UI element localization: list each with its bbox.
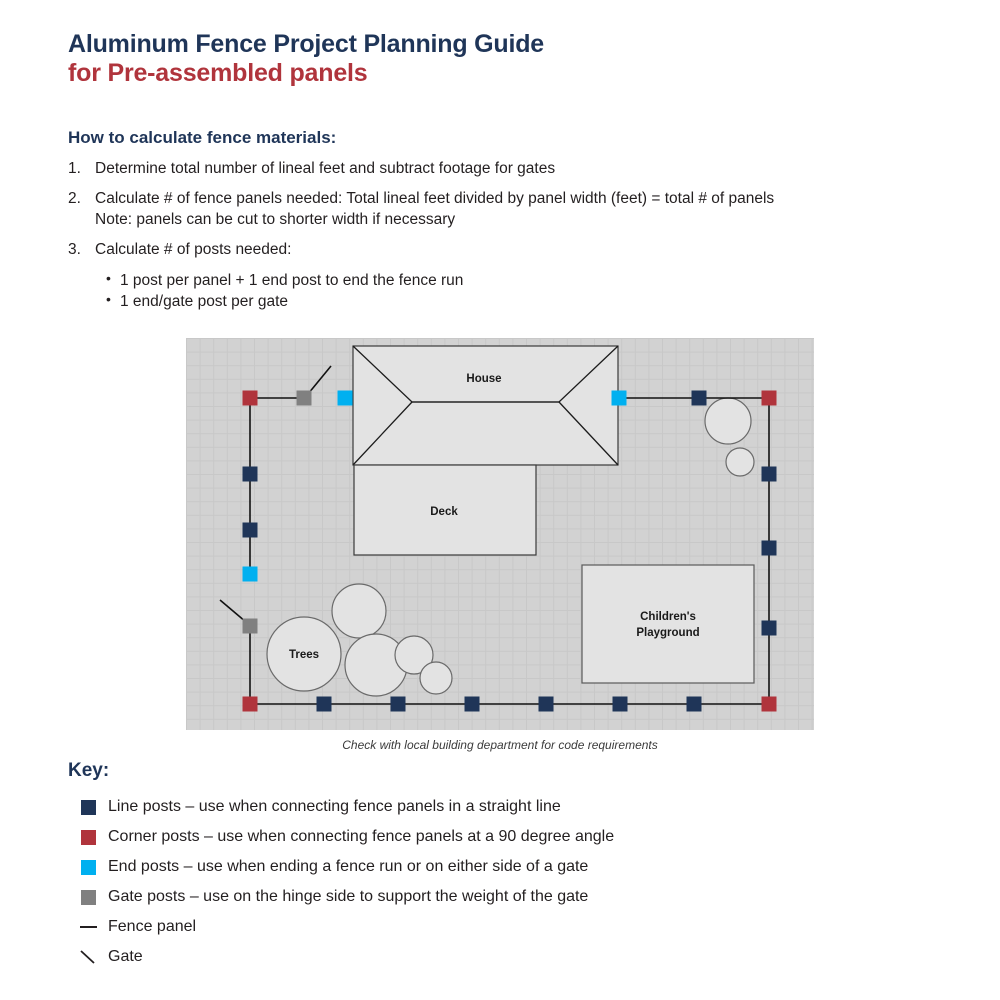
end-post-marker <box>612 391 627 406</box>
diagram-canvas: House Deck Children's Playground Trees <box>186 338 814 730</box>
corner-post-swatch <box>68 830 108 845</box>
corner-post-marker <box>243 697 258 712</box>
key-item-corner-posts: Corner posts – use when connecting fence… <box>68 822 968 852</box>
line-post-marker <box>613 697 628 712</box>
line-post-swatch <box>68 800 108 815</box>
house-shape <box>353 346 618 465</box>
howto-sub-bullets: 1 post per panel + 1 end post to end the… <box>68 270 948 313</box>
gate-post-marker <box>243 619 258 634</box>
key-item-label: Fence panel <box>108 917 196 936</box>
playground-shape <box>582 565 754 683</box>
corner-post-marker <box>762 391 777 406</box>
planning-guide-page: Aluminum Fence Project Planning Guide fo… <box>0 0 1000 1000</box>
line-post-marker <box>762 467 777 482</box>
trees-label: Trees <box>289 649 319 661</box>
line-post-marker <box>243 523 258 538</box>
end-post-swatch <box>68 860 108 875</box>
gate-post-swatch <box>68 890 108 905</box>
gate-diagonal-line-icon <box>68 949 108 965</box>
diagram-caption: Check with local building department for… <box>186 738 814 752</box>
playground-label-line2: Playground <box>636 627 699 639</box>
step-text: Calculate # of fence panels needed: Tota… <box>95 189 948 231</box>
step-text-line2: Note: panels can be cut to shorter width… <box>95 210 948 231</box>
howto-step: 2. Calculate # of fence panels needed: T… <box>68 189 948 231</box>
key-item-line-posts: Line posts – use when connecting fence p… <box>68 792 968 822</box>
tree-circle <box>332 584 386 638</box>
howto-step: 3. Calculate # of posts needed: <box>68 240 948 261</box>
step-number: 1. <box>68 159 95 180</box>
tree-circle <box>726 448 754 476</box>
howto-step: 1. Determine total number of lineal feet… <box>68 159 948 180</box>
key-item-gate-posts: Gate posts – use on the hinge side to su… <box>68 882 968 912</box>
step-text: Calculate # of posts needed: <box>95 240 948 261</box>
key-item-label: Line posts – use when connecting fence p… <box>108 797 561 816</box>
page-title: Aluminum Fence Project Planning Guide <box>68 30 544 59</box>
line-post-marker <box>762 541 777 556</box>
step-text-line1: Calculate # of fence panels needed: Tota… <box>95 190 774 207</box>
step-text: Determine total number of lineal feet an… <box>95 159 948 180</box>
step-number: 3. <box>68 240 95 261</box>
line-post-marker <box>391 697 406 712</box>
line-post-marker <box>539 697 554 712</box>
howto-heading: How to calculate fence materials: <box>68 128 948 148</box>
gate-post-marker <box>297 391 312 406</box>
key-section: Key: Line posts – use when connecting fe… <box>68 760 968 972</box>
end-post-marker <box>338 391 353 406</box>
key-item-fence-panel: Fence panel <box>68 912 968 942</box>
line-post-marker <box>465 697 480 712</box>
fence-panel-line-icon <box>68 926 108 928</box>
step-number: 2. <box>68 189 95 231</box>
page-subtitle: for Pre-assembled panels <box>68 59 544 88</box>
key-item-end-posts: End posts – use when ending a fence run … <box>68 852 968 882</box>
key-item-gate: Gate <box>68 942 968 972</box>
yard-layout-diagram: House Deck Children's Playground Trees <box>186 338 814 730</box>
key-item-label: Gate <box>108 947 143 966</box>
playground-label-line1: Children's <box>640 611 696 623</box>
key-item-label: End posts – use when ending a fence run … <box>108 857 588 876</box>
tree-circle <box>705 398 751 444</box>
sub-bullet-item: 1 end/gate post per gate <box>102 291 948 313</box>
deck-label: Deck <box>430 506 458 518</box>
tree-circle <box>420 662 452 694</box>
sub-bullet-item: 1 post per panel + 1 end post to end the… <box>102 270 948 292</box>
line-post-marker <box>687 697 702 712</box>
end-post-marker <box>243 567 258 582</box>
howto-section: How to calculate fence materials: 1. Det… <box>68 128 948 313</box>
line-post-marker <box>762 621 777 636</box>
house-label: House <box>466 373 501 385</box>
key-heading: Key: <box>68 760 968 782</box>
key-item-label: Corner posts – use when connecting fence… <box>108 827 614 846</box>
corner-post-marker <box>762 697 777 712</box>
document-title-block: Aluminum Fence Project Planning Guide fo… <box>68 30 544 87</box>
key-item-label: Gate posts – use on the hinge side to su… <box>108 887 588 906</box>
line-post-marker <box>692 391 707 406</box>
corner-post-marker <box>243 391 258 406</box>
line-post-marker <box>243 467 258 482</box>
line-post-marker <box>317 697 332 712</box>
